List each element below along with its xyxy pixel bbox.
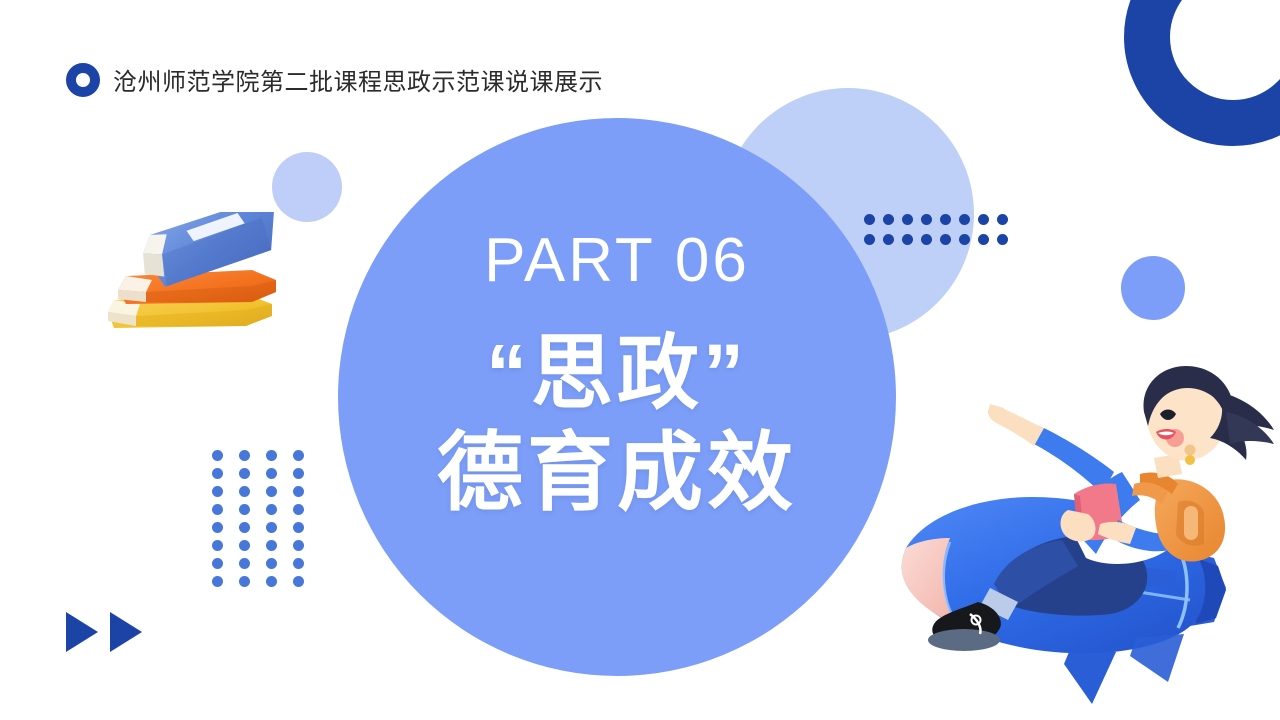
play-triangle-icon xyxy=(110,612,142,652)
decorative-dot xyxy=(940,214,951,225)
decorative-dot xyxy=(293,576,304,587)
decorative-dot xyxy=(883,214,894,225)
decorative-dot xyxy=(266,468,277,479)
decorative-dot xyxy=(266,522,277,533)
decorative-dot xyxy=(239,576,250,587)
decorative-dot xyxy=(212,540,223,551)
decorative-dot xyxy=(997,214,1008,225)
decorative-dot xyxy=(266,558,277,569)
decorative-dot xyxy=(293,504,304,515)
decorative-dot xyxy=(902,214,913,225)
decorative-dot xyxy=(293,522,304,533)
decorative-dot xyxy=(293,468,304,479)
decorative-dot xyxy=(239,504,250,515)
decorative-dot xyxy=(902,234,913,245)
play-triangle-icon xyxy=(66,612,98,652)
decorative-dot xyxy=(978,234,989,245)
decorative-dot xyxy=(239,450,250,461)
decorative-dot xyxy=(266,540,277,551)
presentation-slide: 沧州师范学院第二批课程思政示范课说课展示 xyxy=(0,0,1280,720)
student-on-rocket-illustration xyxy=(878,352,1280,720)
decorative-dot xyxy=(293,558,304,569)
play-triangles xyxy=(66,612,142,652)
decorative-dot xyxy=(883,234,894,245)
decorative-dot xyxy=(978,214,989,225)
decorative-dot xyxy=(239,522,250,533)
decorative-dot xyxy=(212,504,223,515)
decorative-dot xyxy=(239,468,250,479)
ring-donut-icon xyxy=(66,63,100,97)
decorative-dot xyxy=(959,234,970,245)
decorative-dot xyxy=(266,450,277,461)
decorative-dot xyxy=(266,504,277,515)
decorative-dot xyxy=(212,522,223,533)
decorative-dot xyxy=(239,558,250,569)
decorative-dot xyxy=(239,486,250,497)
decorative-dot xyxy=(864,234,875,245)
decorative-dot xyxy=(212,450,223,461)
decorative-dot xyxy=(212,558,223,569)
decorative-dot xyxy=(212,576,223,587)
decorative-dot xyxy=(293,450,304,461)
main-title-circle xyxy=(338,118,896,676)
dot-grid-right xyxy=(864,214,1008,245)
stacked-books-illustration xyxy=(96,212,296,340)
decorative-dot xyxy=(266,486,277,497)
decorative-dot xyxy=(266,576,277,587)
decorative-dot xyxy=(212,468,223,479)
decorative-dot xyxy=(940,234,951,245)
small-circle-right-shape xyxy=(1121,256,1185,320)
decorative-dot xyxy=(239,540,250,551)
header-title: 沧州师范学院第二批课程思政示范课说课展示 xyxy=(113,62,603,97)
decorative-dot xyxy=(959,214,970,225)
corner-ring-shape xyxy=(1124,0,1280,146)
slide-header: 沧州师范学院第二批课程思政示范课说课展示 xyxy=(66,62,603,97)
decorative-dot xyxy=(864,214,875,225)
decorative-dot xyxy=(293,540,304,551)
decorative-dot xyxy=(293,486,304,497)
decorative-dot xyxy=(212,486,223,497)
decorative-dot xyxy=(997,234,1008,245)
decorative-dot xyxy=(921,214,932,225)
dot-grid-left xyxy=(212,450,304,587)
decorative-dot xyxy=(921,234,932,245)
